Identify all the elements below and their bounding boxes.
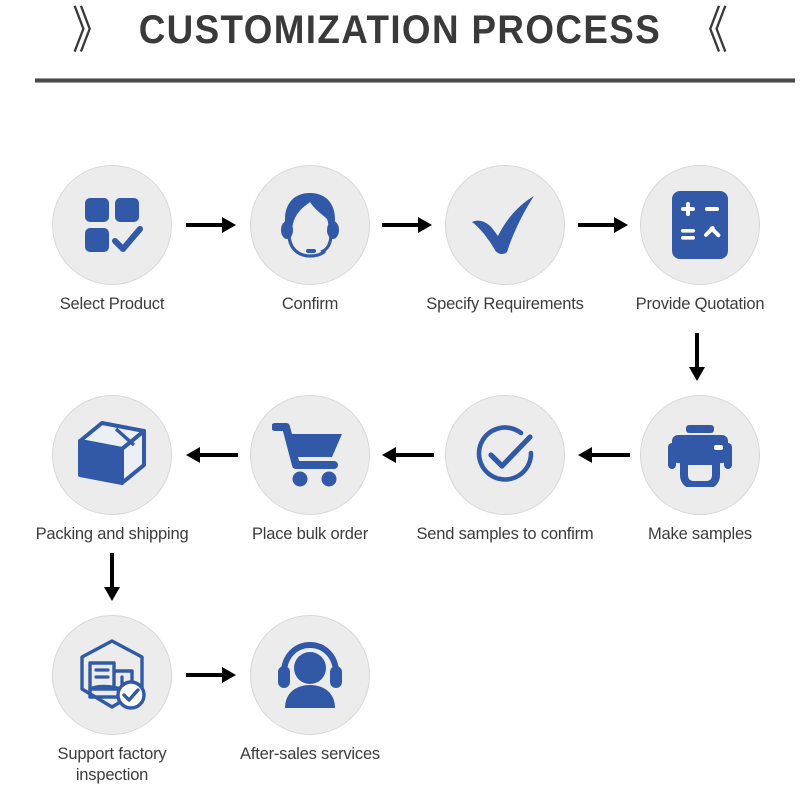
- step-node-select-product[interactable]: Select Product: [12, 165, 212, 315]
- step-node-provide-quotation[interactable]: Provide Quotation: [600, 165, 800, 315]
- arrow-shaft: [110, 553, 114, 589]
- arrow-3-to-4: [578, 215, 630, 235]
- step-icon-circle: [250, 615, 370, 735]
- arrow-head: [614, 217, 628, 233]
- step-node-specify-requirements[interactable]: Specify Requirements: [405, 165, 605, 315]
- grid-check-icon: [79, 192, 145, 258]
- arrow-shaft: [592, 453, 630, 457]
- arrow-2-to-3: [382, 215, 434, 235]
- step-icon-circle: [52, 395, 172, 515]
- step-label: Specify Requirements: [405, 294, 605, 315]
- arrow-5-to-6: [578, 445, 630, 465]
- arrow-shaft: [578, 223, 616, 227]
- page-title-text: CUSTOMIZATION PROCESS: [139, 8, 661, 53]
- arrow-head: [689, 367, 705, 381]
- step-label: Send samples to confirm: [405, 524, 605, 545]
- package-box-icon: [76, 419, 148, 491]
- arrow-head: [578, 447, 592, 463]
- arrow-head: [104, 587, 120, 601]
- page-title: 》CUSTOMIZATION PROCESS《: [0, 8, 800, 53]
- arrow-6-to-7: [382, 445, 434, 465]
- arrow-shaft: [382, 223, 420, 227]
- page-header: 》CUSTOMIZATION PROCESS《: [0, 0, 800, 92]
- calculator-icon: [668, 189, 732, 261]
- step-label: Make samples: [600, 524, 800, 545]
- headset-person-icon: [273, 640, 347, 710]
- support-agent-icon: [273, 188, 347, 262]
- printer-icon: [664, 423, 736, 487]
- arrow-head: [418, 217, 432, 233]
- chevron-left-double-icon: 《: [688, 6, 728, 56]
- step-label: Provide Quotation: [600, 294, 800, 315]
- step-node-place-bulk-order[interactable]: Place bulk order: [210, 395, 410, 545]
- step-icon-circle: [640, 165, 760, 285]
- arrow-shaft: [186, 673, 224, 677]
- arrow-8-to-9: [100, 553, 124, 605]
- step-icon-circle: [445, 395, 565, 515]
- arrow-4-to-5: [685, 333, 709, 385]
- arrow-head: [382, 447, 396, 463]
- checkmark-icon: [468, 192, 542, 258]
- step-icon-circle: [52, 615, 172, 735]
- step-node-make-samples[interactable]: Make samples: [600, 395, 800, 545]
- chevron-right-double-icon: 》: [72, 6, 112, 56]
- step-icon-circle: [52, 165, 172, 285]
- step-node-support-factory-inspection[interactable]: Support factory inspection: [12, 615, 212, 786]
- step-node-send-samples-to-confirm[interactable]: Send samples to confirm: [405, 395, 605, 545]
- step-icon-circle: [250, 395, 370, 515]
- arrow-shaft: [695, 333, 699, 369]
- step-label: After-sales services: [210, 744, 410, 765]
- step-icon-circle: [445, 165, 565, 285]
- step-label: Place bulk order: [210, 524, 410, 545]
- arrow-1-to-2: [186, 215, 238, 235]
- arrow-shaft: [200, 453, 238, 457]
- arrow-head: [222, 217, 236, 233]
- arrow-head: [222, 667, 236, 683]
- title-divider: [35, 78, 795, 83]
- check-circle-icon: [469, 419, 541, 491]
- step-node-packing-and-shipping[interactable]: Packing and shipping: [12, 395, 212, 545]
- step-node-confirm[interactable]: Confirm: [210, 165, 410, 315]
- shopping-cart-icon: [272, 421, 348, 489]
- arrow-shaft: [186, 223, 224, 227]
- step-icon-circle: [640, 395, 760, 515]
- arrow-shaft: [396, 453, 434, 457]
- step-node-after-sales-services[interactable]: After-sales services: [210, 615, 410, 765]
- step-label: Packing and shipping: [12, 524, 212, 545]
- step-icon-circle: [250, 165, 370, 285]
- arrow-7-to-8: [186, 445, 238, 465]
- step-label: Support factory inspection: [12, 744, 212, 786]
- arrow-9-to-10: [186, 665, 238, 685]
- step-label: Confirm: [210, 294, 410, 315]
- step-label: Select Product: [12, 294, 212, 315]
- arrow-head: [186, 447, 200, 463]
- factory-shield-check-icon: [74, 637, 150, 713]
